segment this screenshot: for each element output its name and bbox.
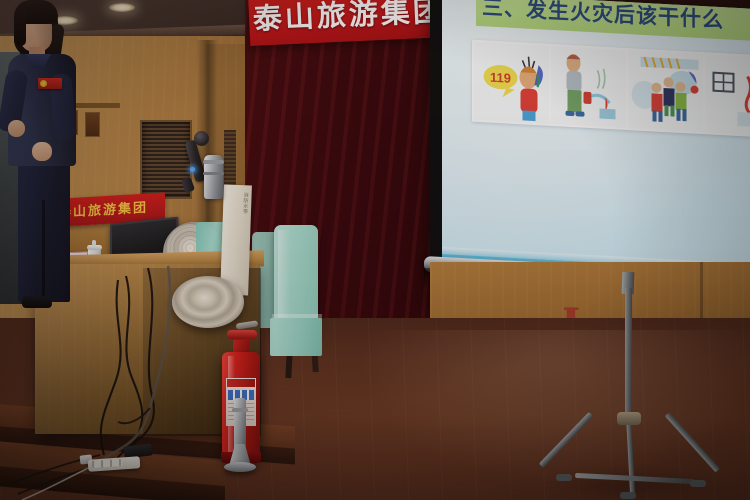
call-119-illustration: 119 xyxy=(474,42,549,124)
presenter-hand-holding-nozzle xyxy=(32,142,52,161)
nozzle-ring xyxy=(203,172,224,175)
ceiling-downlight-icon xyxy=(109,3,135,12)
presenter-hand-holding-microphone xyxy=(8,120,25,137)
evacuate-illustration xyxy=(628,50,703,132)
tripod-foot xyxy=(556,474,572,481)
use-extinguisher-illustration xyxy=(551,46,626,128)
tripod-hub xyxy=(617,412,641,425)
hotel-emblem-icon xyxy=(564,305,579,318)
tripod-foot xyxy=(620,492,636,499)
microphone-head-icon xyxy=(194,131,209,146)
cable-bundle xyxy=(0,250,300,500)
power-cutoff-illustration xyxy=(705,54,750,136)
slide-illustration-strip: 119 xyxy=(472,40,750,139)
wall-inset-square xyxy=(85,112,100,137)
conference-hall-photo: 泰山旅游集团20 三、发生火灾后该干什么 119 xyxy=(0,0,750,500)
tripod-foot xyxy=(690,480,706,487)
microphone-led-indicator xyxy=(190,167,195,172)
svg-text:119: 119 xyxy=(490,70,511,86)
presenter-hair-side xyxy=(14,10,26,46)
wall-vent-louver-secondary xyxy=(224,130,236,192)
nozzle-ring xyxy=(203,160,224,164)
water-cup-knob xyxy=(92,240,96,246)
presenter-badge-emblem-icon xyxy=(40,80,47,87)
tripod-center-post xyxy=(625,288,632,416)
